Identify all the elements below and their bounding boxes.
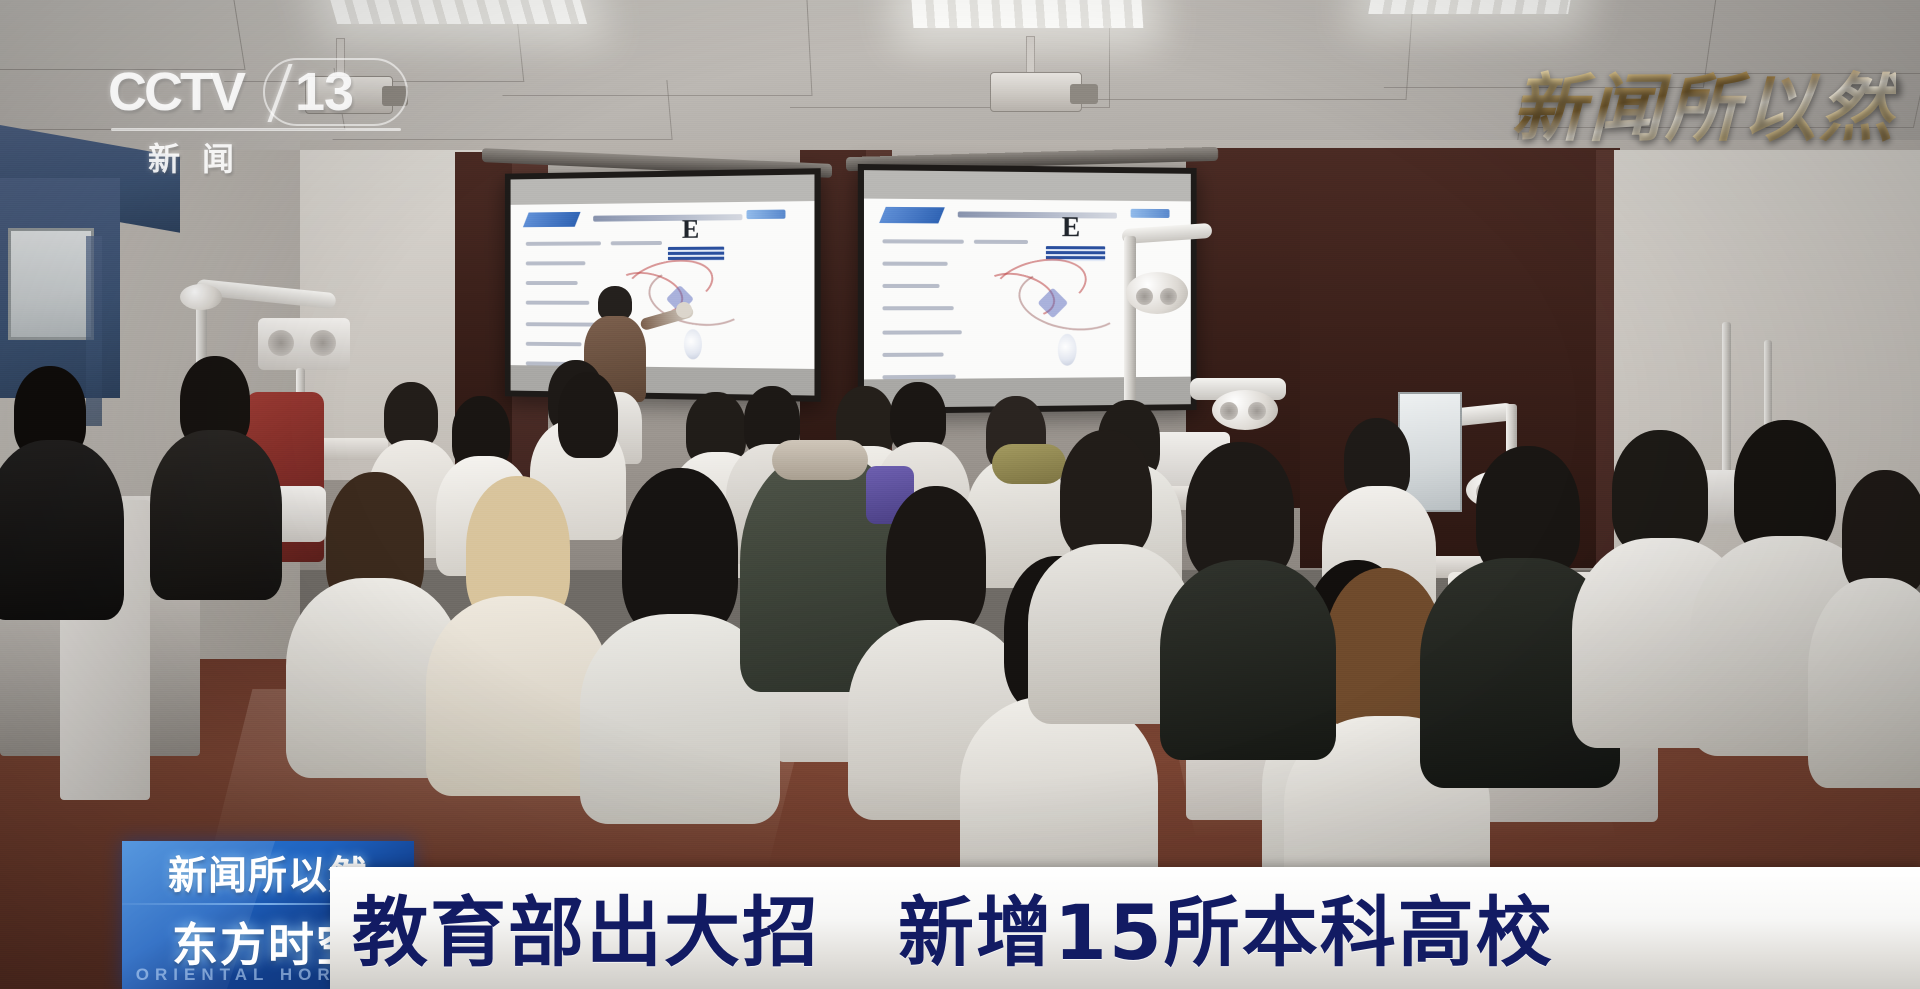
window: [8, 228, 94, 340]
cctv-wordmark: CCTV: [108, 61, 243, 123]
channel-sub-label: 新闻: [148, 134, 256, 180]
slide-content: E: [511, 174, 815, 395]
logo-underline: [111, 128, 401, 131]
program-watermark-text: 新闻所以然: [1511, 49, 1896, 156]
projection-screen-left: E: [505, 168, 821, 402]
slide-letter-e: E: [682, 215, 699, 245]
window-frame: [86, 236, 102, 426]
ceiling-light: [911, 0, 1144, 28]
channel-logo: CCTV 13 新闻: [103, 62, 423, 167]
slide-letter-e: E: [1062, 212, 1080, 244]
broadcast-frame: E: [0, 0, 1920, 989]
ceiling-light: [1368, 0, 1576, 14]
headline-bar: 教育部出大招 新增15所本科高校: [330, 867, 1920, 989]
fur-hood: [772, 440, 868, 480]
ceiling-light: [323, 0, 587, 24]
lower-third: 新闻所以然 东方时空 ORIENTAL HORIZON 教育部出大招 新增15所…: [0, 829, 1920, 989]
headline-text: 教育部出大招 新增15所本科高校: [352, 871, 1554, 981]
program-watermark: 新闻所以然: [1511, 48, 1896, 156]
channel-number: 13: [295, 61, 353, 123]
ceiling-tile: [0, 0, 246, 70]
